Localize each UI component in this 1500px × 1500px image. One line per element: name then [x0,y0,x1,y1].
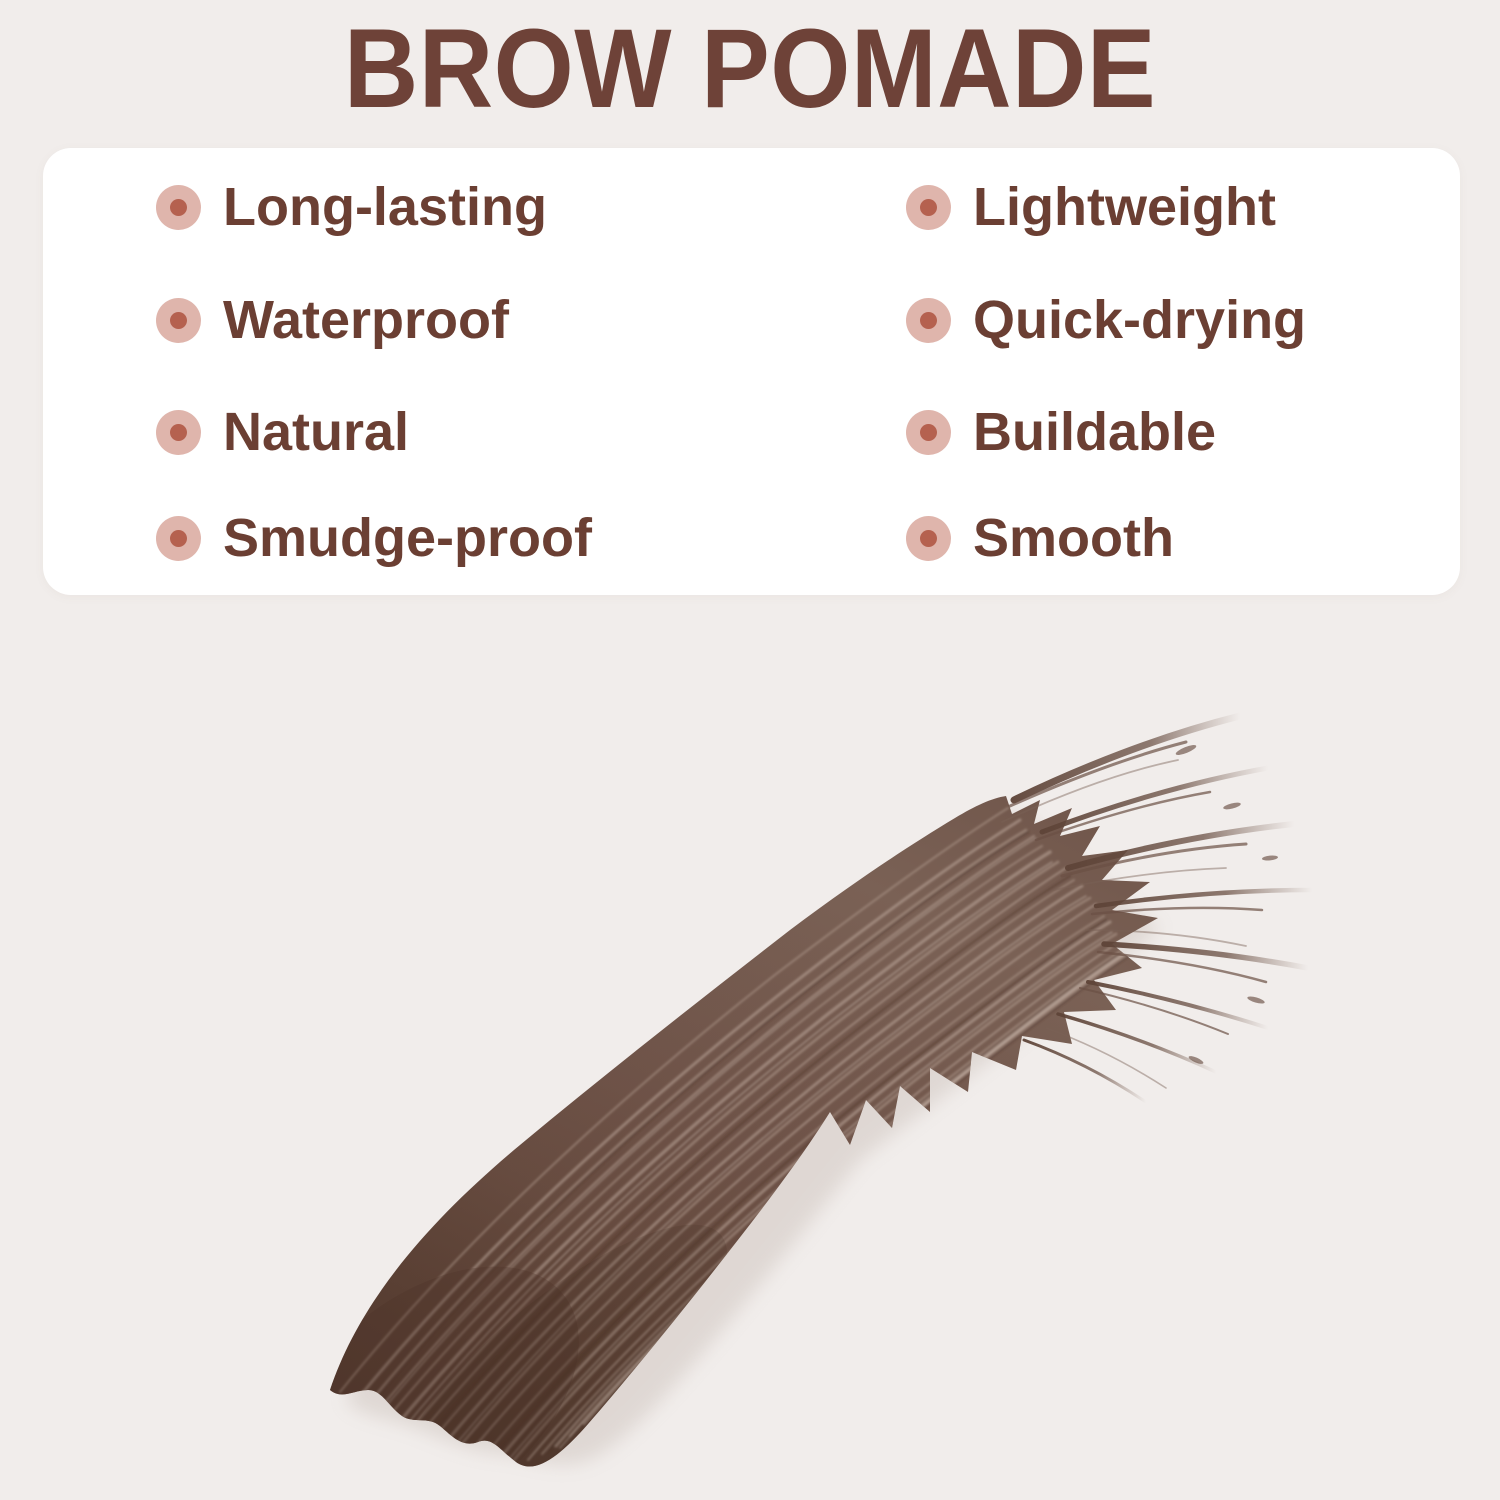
feature-item: Buildable [906,402,1216,462]
bullet-dot-icon [156,516,201,561]
feature-item: Natural [156,402,409,462]
bullet-dot-icon [906,516,951,561]
bullet-dot-icon [156,410,201,455]
bullet-dot-icon [906,185,951,230]
bullet-dot-icon [906,410,951,455]
page-title: BROW POMADE [60,10,1440,128]
feature-label: Waterproof [223,291,509,349]
feature-label: Lightweight [973,178,1276,236]
bullet-dot-icon [906,298,951,343]
feature-label: Long-lasting [223,178,547,236]
feature-label: Quick-drying [973,291,1306,349]
feature-item: Quick-drying [906,290,1306,350]
bullet-dot-icon [156,298,201,343]
product-swatch [0,600,1500,1500]
feature-item: Smudge-proof [156,508,592,568]
feature-item: Smooth [906,508,1174,568]
feature-item: Waterproof [156,290,509,350]
feature-label: Smooth [973,509,1174,567]
features-card: Long-lasting Waterproof Natural Smudge-p… [43,148,1460,595]
brush-swatch-image [0,600,1500,1500]
feature-label: Buildable [973,403,1216,461]
feature-item: Lightweight [906,177,1276,237]
feature-column-left: Long-lasting Waterproof Natural Smudge-p… [156,148,796,595]
feature-label: Natural [223,403,409,461]
feature-column-right: Lightweight Quick-drying Buildable Smoot… [906,148,1446,595]
feature-item: Long-lasting [156,177,547,237]
product-feature-page: BROW POMADE Long-lasting Waterproof Natu… [0,0,1500,1500]
bullet-dot-icon [156,185,201,230]
feature-label: Smudge-proof [223,509,592,567]
